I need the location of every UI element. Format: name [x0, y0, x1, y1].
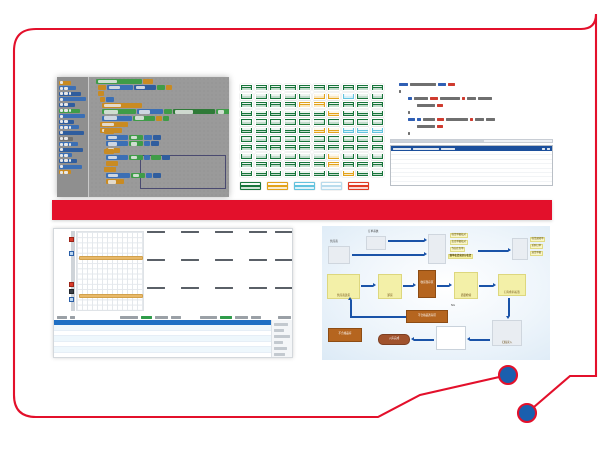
block-segment[interactable] — [133, 116, 155, 121]
palette-block-set-global[interactable] — [59, 86, 76, 90]
sheet-text-block-g1-c5 — [275, 231, 293, 257]
block-slot — [139, 110, 150, 113]
block-row[interactable] — [102, 103, 229, 108]
flow-node-inbound-done[interactable]: 入库完成 — [378, 334, 410, 345]
status-card-r9-c2[interactable] — [255, 153, 268, 160]
block-segment[interactable] — [164, 109, 172, 114]
sheet-text-line — [275, 240, 293, 243]
sheet-text-block-g1-c2 — [181, 231, 213, 257]
block-segment[interactable] — [151, 141, 159, 146]
sheet-text-block-g3-c1 — [147, 287, 179, 313]
status-card-bar — [329, 122, 339, 124]
flow-tag-right-1: 收货通知单 — [530, 237, 545, 242]
blocks-canvas[interactable] — [90, 77, 229, 197]
status-card-r7-c5[interactable] — [298, 135, 311, 142]
status-card-r8-c2[interactable] — [255, 144, 268, 151]
block-slot — [108, 180, 116, 183]
status-card-r6-c8[interactable] — [342, 127, 355, 134]
block-row[interactable] — [98, 91, 172, 96]
block-segment[interactable] — [107, 85, 133, 90]
code-line-5[interactable] — [390, 110, 553, 114]
block-segment[interactable] — [134, 85, 156, 90]
status-card-r4-c1[interactable] — [240, 110, 253, 117]
status-card-bar — [271, 88, 281, 90]
status-card-r2-c7[interactable] — [327, 93, 340, 100]
block-row[interactable] — [106, 141, 161, 146]
status-card-r5-c3[interactable] — [269, 118, 282, 125]
block-row[interactable] — [100, 97, 229, 102]
block-segment[interactable] — [162, 155, 170, 160]
status-card-r1-c4[interactable] — [284, 84, 297, 91]
block-segment[interactable] — [106, 141, 128, 146]
code-token-str — [437, 118, 444, 121]
status-card-r9-c8[interactable] — [342, 153, 355, 160]
block-row[interactable] — [106, 155, 170, 160]
status-card-r1-c8[interactable] — [342, 84, 355, 91]
status-card-r3-c1[interactable] — [240, 101, 253, 108]
status-card-r8-c4[interactable] — [284, 144, 297, 151]
block-segment[interactable] — [98, 85, 106, 90]
status-card-r6-c10[interactable] — [371, 127, 384, 134]
status-card-bar — [373, 139, 383, 141]
status-card-r9-c5[interactable] — [298, 153, 311, 160]
block-segment[interactable] — [129, 141, 143, 146]
status-card-r4-c4[interactable] — [284, 110, 297, 117]
status-card-r5-c9[interactable] — [356, 118, 369, 125]
code-horizontal-scrollbar[interactable] — [390, 139, 553, 143]
status-card-r10-c10[interactable] — [371, 161, 384, 168]
status-card-r3-c6[interactable] — [313, 101, 326, 108]
block-row[interactable] — [104, 167, 161, 172]
status-card-bar — [314, 174, 324, 176]
status-card-r11-c5[interactable] — [298, 170, 311, 177]
schedule-node-4[interactable] — [69, 289, 74, 294]
flow-node-archive-image[interactable] — [512, 238, 528, 260]
palette-block-slot — [60, 165, 63, 168]
status-card-r7-c6[interactable] — [313, 135, 326, 142]
status-card-r10-c3[interactable] — [269, 161, 282, 168]
status-card-r4-c5[interactable] — [298, 110, 311, 117]
block-segment[interactable] — [102, 109, 136, 114]
status-card-r8-c1[interactable] — [240, 144, 253, 151]
status-card-r10-c9[interactable] — [356, 161, 369, 168]
status-card-r11-c6[interactable] — [313, 170, 326, 177]
status-card-r1-c10[interactable] — [371, 84, 384, 91]
flow-node-reject-area[interactable]: 不合格品暂存区 — [406, 310, 448, 323]
status-card-cap — [314, 128, 324, 130]
block-row[interactable] — [102, 116, 229, 121]
sheet-text-line — [147, 276, 179, 279]
log-row-list[interactable] — [391, 151, 552, 186]
block-group-1[interactable] — [96, 79, 172, 98]
status-card-r2-c1[interactable] — [240, 93, 253, 100]
status-card-r10-c5[interactable] — [298, 161, 311, 168]
status-card-r3-c9[interactable] — [356, 101, 369, 108]
table-row[interactable] — [54, 353, 293, 358]
status-card-bar — [358, 156, 368, 158]
status-card-grid[interactable] — [240, 84, 384, 177]
code-token-txt — [446, 118, 468, 121]
status-card-bar — [344, 122, 354, 124]
palette-block-text-join[interactable] — [59, 131, 84, 135]
code-line-7[interactable] — [390, 125, 553, 129]
palette-block-slot — [60, 131, 63, 134]
status-card-cap — [285, 146, 295, 148]
status-card-r6-c1[interactable] — [240, 127, 253, 134]
status-card-r3-c5[interactable] — [298, 101, 311, 108]
sheet-text-line — [147, 304, 179, 307]
status-card-r10-c6[interactable] — [313, 161, 326, 168]
status-card-r3-c3[interactable] — [269, 101, 282, 108]
sheet-text-line — [275, 252, 293, 255]
sheet-text-line — [181, 272, 213, 275]
gantt-grid[interactable] — [76, 231, 144, 311]
palette-block-clock-timer[interactable] — [59, 170, 71, 174]
table-side-panel[interactable] — [271, 320, 293, 358]
block-row[interactable] — [104, 129, 161, 134]
status-card-r2-c3[interactable] — [269, 93, 282, 100]
schedule-node-1[interactable] — [69, 237, 74, 242]
schedule-node-2[interactable] — [69, 251, 74, 256]
status-card-r8-c3[interactable] — [269, 144, 282, 151]
status-card-r8-c7[interactable] — [327, 144, 340, 151]
log-console-panel[interactable] — [390, 145, 553, 186]
status-card-r5-c8[interactable] — [342, 118, 355, 125]
block-segment[interactable] — [104, 129, 114, 134]
status-card-r11-c1[interactable] — [240, 170, 253, 177]
legend-cap — [241, 183, 260, 185]
blocks-palette[interactable] — [57, 77, 89, 197]
gantt-task-bar-1[interactable] — [79, 256, 143, 260]
status-card-r8-c8[interactable] — [342, 144, 355, 151]
status-card-bar — [358, 88, 368, 90]
status-card-r2-c8[interactable] — [342, 93, 355, 100]
flow-label-ng: NG — [451, 304, 455, 307]
sheet-text-line — [181, 244, 213, 247]
status-card-r4-c6[interactable] — [313, 110, 326, 117]
block-segment[interactable] — [153, 135, 161, 140]
flow-node-order-system-image[interactable] — [366, 236, 386, 250]
status-card-r5-c6[interactable] — [313, 118, 326, 125]
status-card-r6-c2[interactable] — [255, 127, 268, 134]
status-card-r3-c4[interactable] — [284, 101, 297, 108]
status-card-r1-c7[interactable] — [327, 84, 340, 91]
block-segment[interactable] — [104, 149, 114, 154]
status-card-r9-c10[interactable] — [371, 153, 384, 160]
block-row[interactable] — [106, 173, 161, 178]
block-segment[interactable] — [143, 79, 153, 84]
status-card-r10-c2[interactable] — [255, 161, 268, 168]
spreadsheet-panel[interactable] — [53, 228, 293, 358]
sheet-text-line — [147, 272, 179, 275]
status-card-r6-c4[interactable] — [284, 127, 297, 134]
block-row[interactable] — [100, 122, 229, 127]
status-card-bar — [344, 139, 354, 141]
flow-arrow-left-up — [350, 300, 352, 317]
status-card-bar — [373, 131, 383, 133]
block-segment[interactable] — [173, 109, 215, 114]
block-segment[interactable] — [100, 122, 128, 127]
block-segment[interactable] — [106, 161, 118, 166]
status-card-r10-c1[interactable] — [240, 161, 253, 168]
flow-node-quality-check[interactable]: 质量检验 — [454, 272, 478, 299]
sheet-text-line — [181, 240, 213, 243]
status-card-r10-c7[interactable] — [327, 161, 340, 168]
block-segment[interactable] — [102, 116, 132, 121]
status-card-r9-c7[interactable] — [327, 153, 340, 160]
palette-block-list-item[interactable] — [59, 109, 80, 113]
block-segment[interactable] — [100, 97, 105, 102]
status-card-r5-c4[interactable] — [284, 118, 297, 125]
status-card-r4-c3[interactable] — [269, 110, 282, 117]
status-card-r4-c9[interactable] — [356, 110, 369, 117]
status-card-r9-c9[interactable] — [356, 153, 369, 160]
status-card-r1-c9[interactable] — [356, 84, 369, 91]
status-card-r4-c2[interactable] — [255, 110, 268, 117]
sheet-text-block-g2-c5 — [275, 259, 293, 285]
status-card-r5-c7[interactable] — [327, 118, 340, 125]
status-card-r7-c4[interactable] — [284, 135, 297, 142]
flow-node-goods-storage[interactable]: 收货暂存区 — [418, 270, 436, 298]
status-card-r2-c6[interactable] — [313, 93, 326, 100]
block-segment[interactable] — [106, 155, 128, 160]
flow-tag-center-2: 出库单据核对 — [450, 240, 468, 245]
status-card-r7-c8[interactable] — [342, 135, 355, 142]
status-card-r4-c10[interactable] — [371, 110, 384, 117]
schedule-node-3[interactable] — [69, 282, 74, 287]
status-card-r6-c9[interactable] — [356, 127, 369, 134]
block-segment[interactable] — [146, 173, 152, 178]
status-card-r4-c8[interactable] — [342, 110, 355, 117]
sheet-text-line — [275, 291, 293, 294]
status-card-bar — [329, 165, 339, 167]
code-line-8[interactable] — [390, 132, 553, 136]
code-token-txt — [467, 97, 476, 100]
palette-block-slot — [60, 120, 63, 123]
sheet-text-heading-run — [249, 259, 267, 261]
status-card-r6-c7[interactable] — [327, 127, 340, 134]
palette-block-math-compare[interactable] — [59, 137, 73, 141]
block-segment[interactable] — [166, 85, 172, 90]
block-group-5[interactable] — [104, 167, 161, 186]
status-card-r11-c8[interactable] — [342, 170, 355, 177]
block-segment[interactable] — [98, 91, 104, 96]
status-card-r5-c1[interactable] — [240, 118, 253, 125]
status-card-r1-c3[interactable] — [269, 84, 282, 91]
status-card-r11-c4[interactable] — [284, 170, 297, 177]
palette-block-notifier-alert[interactable] — [59, 165, 82, 169]
status-card-r2-c10[interactable] — [371, 93, 384, 100]
block-segment[interactable] — [157, 85, 165, 90]
code-line-3[interactable] — [390, 96, 553, 100]
status-card-bar — [373, 165, 383, 167]
flow-node-receiving-desk-image[interactable] — [428, 234, 446, 264]
palette-block-slot — [60, 87, 63, 90]
status-card-cap — [329, 128, 339, 130]
sheet-text-line — [147, 252, 179, 255]
block-segment[interactable] — [129, 155, 143, 160]
block-row[interactable] — [98, 85, 172, 90]
block-row[interactable] — [102, 109, 229, 114]
status-card-r4-c7[interactable] — [327, 110, 340, 117]
schedule-area[interactable] — [54, 229, 293, 313]
palette-block-slot — [69, 143, 72, 146]
block-segment[interactable] — [102, 103, 142, 108]
palette-block-call-procedure[interactable] — [59, 92, 81, 96]
sheet-text-heading-run — [215, 287, 233, 289]
block-row[interactable] — [106, 135, 161, 140]
palette-block-get-value[interactable] — [59, 120, 74, 124]
status-card-r3-c10[interactable] — [371, 101, 384, 108]
status-card-bar — [256, 114, 266, 116]
gantt-task-bar-2[interactable] — [79, 294, 143, 298]
code-line-1[interactable] — [390, 82, 553, 86]
palette-block-number[interactable] — [59, 125, 79, 129]
status-card-r2-c4[interactable] — [284, 93, 297, 100]
block-segment[interactable] — [129, 135, 143, 140]
status-card-r1-c5[interactable] — [298, 84, 311, 91]
blocks-editor-panel[interactable] — [57, 77, 229, 197]
code-editor-panel[interactable] — [390, 82, 553, 142]
palette-block-slot — [60, 98, 63, 101]
status-card-r3-c2[interactable] — [255, 101, 268, 108]
status-card-r1-c6[interactable] — [313, 84, 326, 91]
status-card-r9-c4[interactable] — [284, 153, 297, 160]
status-card-bar — [271, 131, 281, 133]
palette-block-logic-and[interactable] — [59, 142, 78, 146]
block-slot — [108, 142, 117, 145]
status-card-r11-c9[interactable] — [356, 170, 369, 177]
status-card-cap — [300, 146, 310, 148]
logistics-flowchart-panel[interactable]: 供应商 订单系统 收货单据核对 出库单据核对 作业任务单 整单收货或部分收货 收… — [322, 226, 550, 360]
status-card-r3-c7[interactable] — [327, 101, 340, 108]
status-card-r6-c3[interactable] — [269, 127, 282, 134]
block-segment[interactable] — [96, 79, 142, 84]
status-card-r9-c6[interactable] — [313, 153, 326, 160]
block-segment[interactable] — [156, 116, 162, 121]
status-card-r2-c2[interactable] — [255, 93, 268, 100]
block-segment[interactable] — [144, 135, 152, 140]
block-segment[interactable] — [137, 109, 163, 114]
status-card-r11-c2[interactable] — [255, 170, 268, 177]
code-line-6[interactable] — [390, 117, 553, 121]
block-segment[interactable] — [153, 173, 161, 178]
status-card-r11-c10[interactable] — [371, 170, 384, 177]
status-card-r5-c10[interactable] — [371, 118, 384, 125]
status-card-r11-c7[interactable] — [327, 170, 340, 177]
status-card-r6-c5[interactable] — [298, 127, 311, 134]
status-card-cap — [329, 86, 339, 88]
block-segment[interactable] — [144, 155, 150, 160]
flow-node-unloading[interactable]: 卸货 — [378, 274, 402, 299]
status-card-r8-c5[interactable] — [298, 144, 311, 151]
status-card-r7-c3[interactable] — [269, 135, 282, 142]
flow-node-reject-return[interactable]: 不合格品库 — [328, 328, 362, 342]
block-slot — [108, 136, 117, 139]
status-card-r8-c6[interactable] — [313, 144, 326, 151]
status-card-r9-c1[interactable] — [240, 153, 253, 160]
block-segment[interactable] — [106, 179, 124, 184]
block-segment[interactable] — [106, 97, 114, 102]
palette-block-make-a-list[interactable] — [59, 148, 83, 152]
status-card-r7-c1[interactable] — [240, 135, 253, 142]
status-card-r8-c9[interactable] — [356, 144, 369, 151]
status-card-r9-c3[interactable] — [269, 153, 282, 160]
code-line-4[interactable] — [390, 103, 553, 107]
palette-block-set-property[interactable] — [59, 114, 85, 118]
log-row-8[interactable] — [391, 182, 552, 186]
block-row[interactable] — [106, 179, 161, 184]
status-card-r7-c9[interactable] — [356, 135, 369, 142]
status-card-r7-c2[interactable] — [255, 135, 268, 142]
status-card-cap — [285, 111, 295, 113]
code-line-2[interactable] — [390, 89, 553, 93]
status-card-bar — [344, 148, 354, 150]
block-segment[interactable] — [144, 141, 150, 146]
legend-bar — [295, 187, 314, 189]
palette-block-for-each[interactable] — [59, 103, 75, 107]
status-card-r7-c7[interactable] — [327, 135, 340, 142]
schedule-node-5[interactable] — [69, 297, 74, 302]
status-card-r5-c5[interactable] — [298, 118, 311, 125]
status-card-r10-c4[interactable] — [284, 161, 297, 168]
status-card-r5-c2[interactable] — [255, 118, 268, 125]
status-card-bar — [300, 88, 310, 90]
sheet-text-line — [147, 263, 179, 266]
data-table[interactable] — [54, 315, 293, 358]
flow-node-delivery-truck[interactable]: 供应商送货 — [327, 274, 360, 299]
flow-node-putaway-image[interactable] — [436, 326, 466, 350]
palette-block-when-screen-initialize[interactable] — [59, 81, 71, 85]
table-body[interactable] — [54, 325, 293, 358]
status-card-r11-c3[interactable] — [269, 170, 282, 177]
status-card-r1-c1[interactable] — [240, 84, 253, 91]
palette-block-open-screen[interactable] — [59, 153, 72, 157]
sheet-text-heading-run — [147, 287, 165, 289]
block-row[interactable] — [106, 161, 170, 166]
status-card-bar — [271, 165, 281, 167]
flow-node-barcode-scan[interactable]: 扫描录入 — [492, 320, 522, 346]
block-segment[interactable] — [131, 173, 145, 178]
block-segment[interactable] — [163, 116, 169, 121]
status-card-r10-c8[interactable] — [342, 161, 355, 168]
block-group-4[interactable] — [104, 149, 170, 168]
block-segment[interactable] — [104, 167, 116, 172]
status-card-r7-c10[interactable] — [371, 135, 384, 142]
block-segment[interactable] — [106, 135, 128, 140]
status-card-r6-c6[interactable] — [313, 127, 326, 134]
block-row[interactable] — [96, 79, 172, 84]
status-card-r1-c2[interactable] — [255, 84, 268, 91]
status-card-r3-c8[interactable] — [342, 101, 355, 108]
block-segment[interactable] — [106, 173, 130, 178]
status-card-r8-c10[interactable] — [371, 144, 384, 151]
block-slot — [133, 174, 139, 177]
palette-block-close-screen[interactable] — [59, 159, 77, 163]
flow-node-barcode-print[interactable]: 打印条码标签 — [498, 274, 526, 296]
status-card-cap — [242, 86, 252, 88]
flow-node-supplier-image[interactable] — [328, 246, 350, 264]
palette-block-slot — [64, 143, 68, 146]
status-card-r2-c5[interactable] — [298, 93, 311, 100]
legend-cap — [268, 183, 287, 185]
palette-block-if-then[interactable] — [59, 97, 86, 101]
block-segment[interactable] — [151, 155, 161, 160]
block-segment[interactable] — [216, 109, 229, 114]
block-slot — [131, 136, 137, 139]
status-card-r2-c9[interactable] — [356, 93, 369, 100]
block-row[interactable] — [104, 149, 170, 154]
